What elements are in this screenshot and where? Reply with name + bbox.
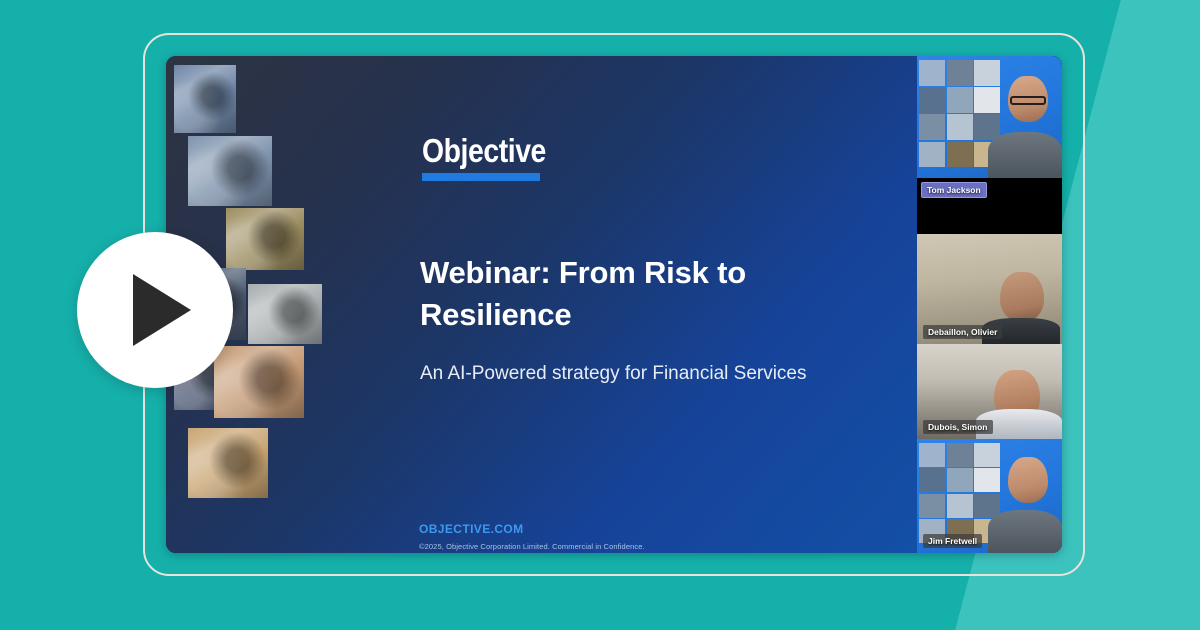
participant-tile[interactable] <box>917 56 1062 178</box>
participant-name-label: Debaillon, Olivier <box>923 325 1002 339</box>
collage-photo-wind-farm-landscape <box>226 208 304 270</box>
collage-photo-two-people-office-chat <box>248 284 322 344</box>
footer-website-url: OBJECTIVE.COM <box>419 522 524 536</box>
objective-logo-wordmark: Objective <box>422 132 546 170</box>
participant-tile[interactable]: Debaillon, Olivier <box>917 234 1062 344</box>
play-button[interactable] <box>77 232 233 388</box>
collage-photo-hands-pointing-charts <box>214 346 304 418</box>
video-participant-strip: Tom JacksonDebaillon, OlivierDubois, Sim… <box>917 56 1062 553</box>
slide-subtitle: An AI-Powered strategy for Financial Ser… <box>420 358 820 390</box>
collage-photo-woman-at-desk-thinking <box>174 65 236 133</box>
participant-name-label: Dubois, Simon <box>923 420 993 434</box>
participant-tile[interactable]: Dubois, Simon <box>917 344 1062 439</box>
participant-tile[interactable]: Jim Fretwell <box>917 439 1062 553</box>
objective-logo-underline-bar <box>422 173 540 181</box>
participant-name-label: Jim Fretwell <box>923 534 982 548</box>
presentation-slide: Objective Webinar: From Risk to Resilien… <box>166 56 917 553</box>
play-triangle-icon <box>133 274 191 346</box>
video-player[interactable]: Objective Webinar: From Risk to Resilien… <box>166 56 1062 553</box>
participant-torso <box>988 132 1062 178</box>
participant-tile[interactable]: Tom Jackson <box>917 178 1062 234</box>
collage-photo-boardroom-meeting <box>188 136 272 206</box>
slide-title: Webinar: From Risk to Resilience <box>420 252 840 335</box>
participant-face <box>1008 457 1048 503</box>
collage-photo-holding-hands-sunset <box>188 428 268 498</box>
participant-name-label: Tom Jackson <box>921 182 987 198</box>
objective-logo: Objective <box>422 132 566 181</box>
eyeglasses-icon <box>1010 96 1046 105</box>
footer-copyright-notice: ©2025, Objective Corporation Limited. Co… <box>419 542 645 551</box>
participant-face <box>1000 272 1044 322</box>
participant-torso <box>988 510 1062 553</box>
